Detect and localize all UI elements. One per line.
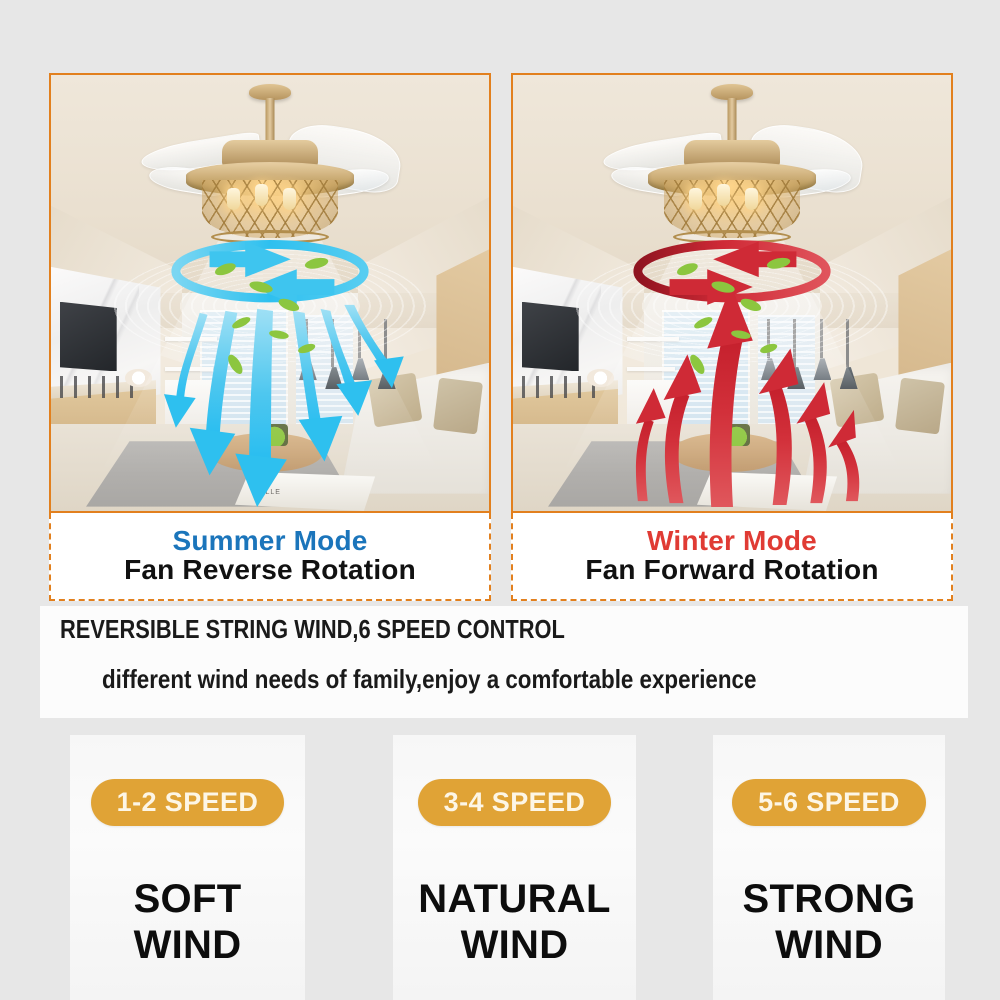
summer-mode-subtitle: Fan Reverse Rotation: [124, 555, 416, 586]
summer-mode-title: Summer Mode: [172, 526, 367, 556]
wind-name-strong-line1: STRONG: [743, 876, 916, 922]
rotation-arrow-tail-right: [670, 279, 712, 295]
speed-badge-1-2: 1-2 SPEED: [91, 779, 285, 826]
wind-name-soft: SOFT WIND: [134, 876, 242, 969]
speed-card-soft: 1-2 SPEED SOFT WIND: [70, 735, 305, 1000]
winter-photo-panel: [511, 73, 953, 513]
headline-block: REVERSIBLE STRING WIND,6 SPEED CONTROL d…: [40, 606, 968, 718]
headline-line-2: different wind needs of family,enjoy a c…: [102, 664, 756, 695]
winter-mode-subtitle: Fan Forward Rotation: [585, 555, 878, 586]
wind-name-strong: STRONG WIND: [743, 876, 916, 969]
summer-airflow-overlay: [51, 75, 489, 511]
speed-card-natural: 3-4 SPEED NATURAL WIND: [393, 735, 636, 1000]
wind-name-natural-line1: NATURAL: [418, 876, 610, 922]
winter-mode-title: Winter Mode: [647, 526, 817, 556]
wind-name-natural-line2: WIND: [418, 922, 610, 968]
wind-name-soft-line1: SOFT: [134, 876, 242, 922]
winter-airflow-overlay: [513, 75, 951, 511]
rotation-arrow-tail-left: [293, 279, 335, 295]
upward-arrows-red: [636, 285, 859, 507]
winter-caption-box: Winter Mode Fan Forward Rotation: [511, 513, 953, 601]
room-scene-winter: [513, 75, 951, 511]
speed-badge-3-4: 3-4 SPEED: [418, 779, 612, 826]
speed-badge-5-6: 5-6 SPEED: [732, 779, 926, 826]
wind-name-strong-line2: WIND: [743, 922, 916, 968]
infographic-stage: VILLE: [0, 0, 1000, 1000]
wind-name-soft-line2: WIND: [134, 922, 242, 968]
summer-photo-panel: VILLE: [49, 73, 491, 513]
headline-line-1: REVERSIBLE STRING WIND,6 SPEED CONTROL: [60, 614, 565, 645]
room-scene-summer: VILLE: [51, 75, 489, 511]
summer-caption-box: Summer Mode Fan Reverse Rotation: [49, 513, 491, 601]
speed-card-strong: 5-6 SPEED STRONG WIND: [713, 735, 945, 1000]
wind-name-natural: NATURAL WIND: [418, 876, 610, 969]
